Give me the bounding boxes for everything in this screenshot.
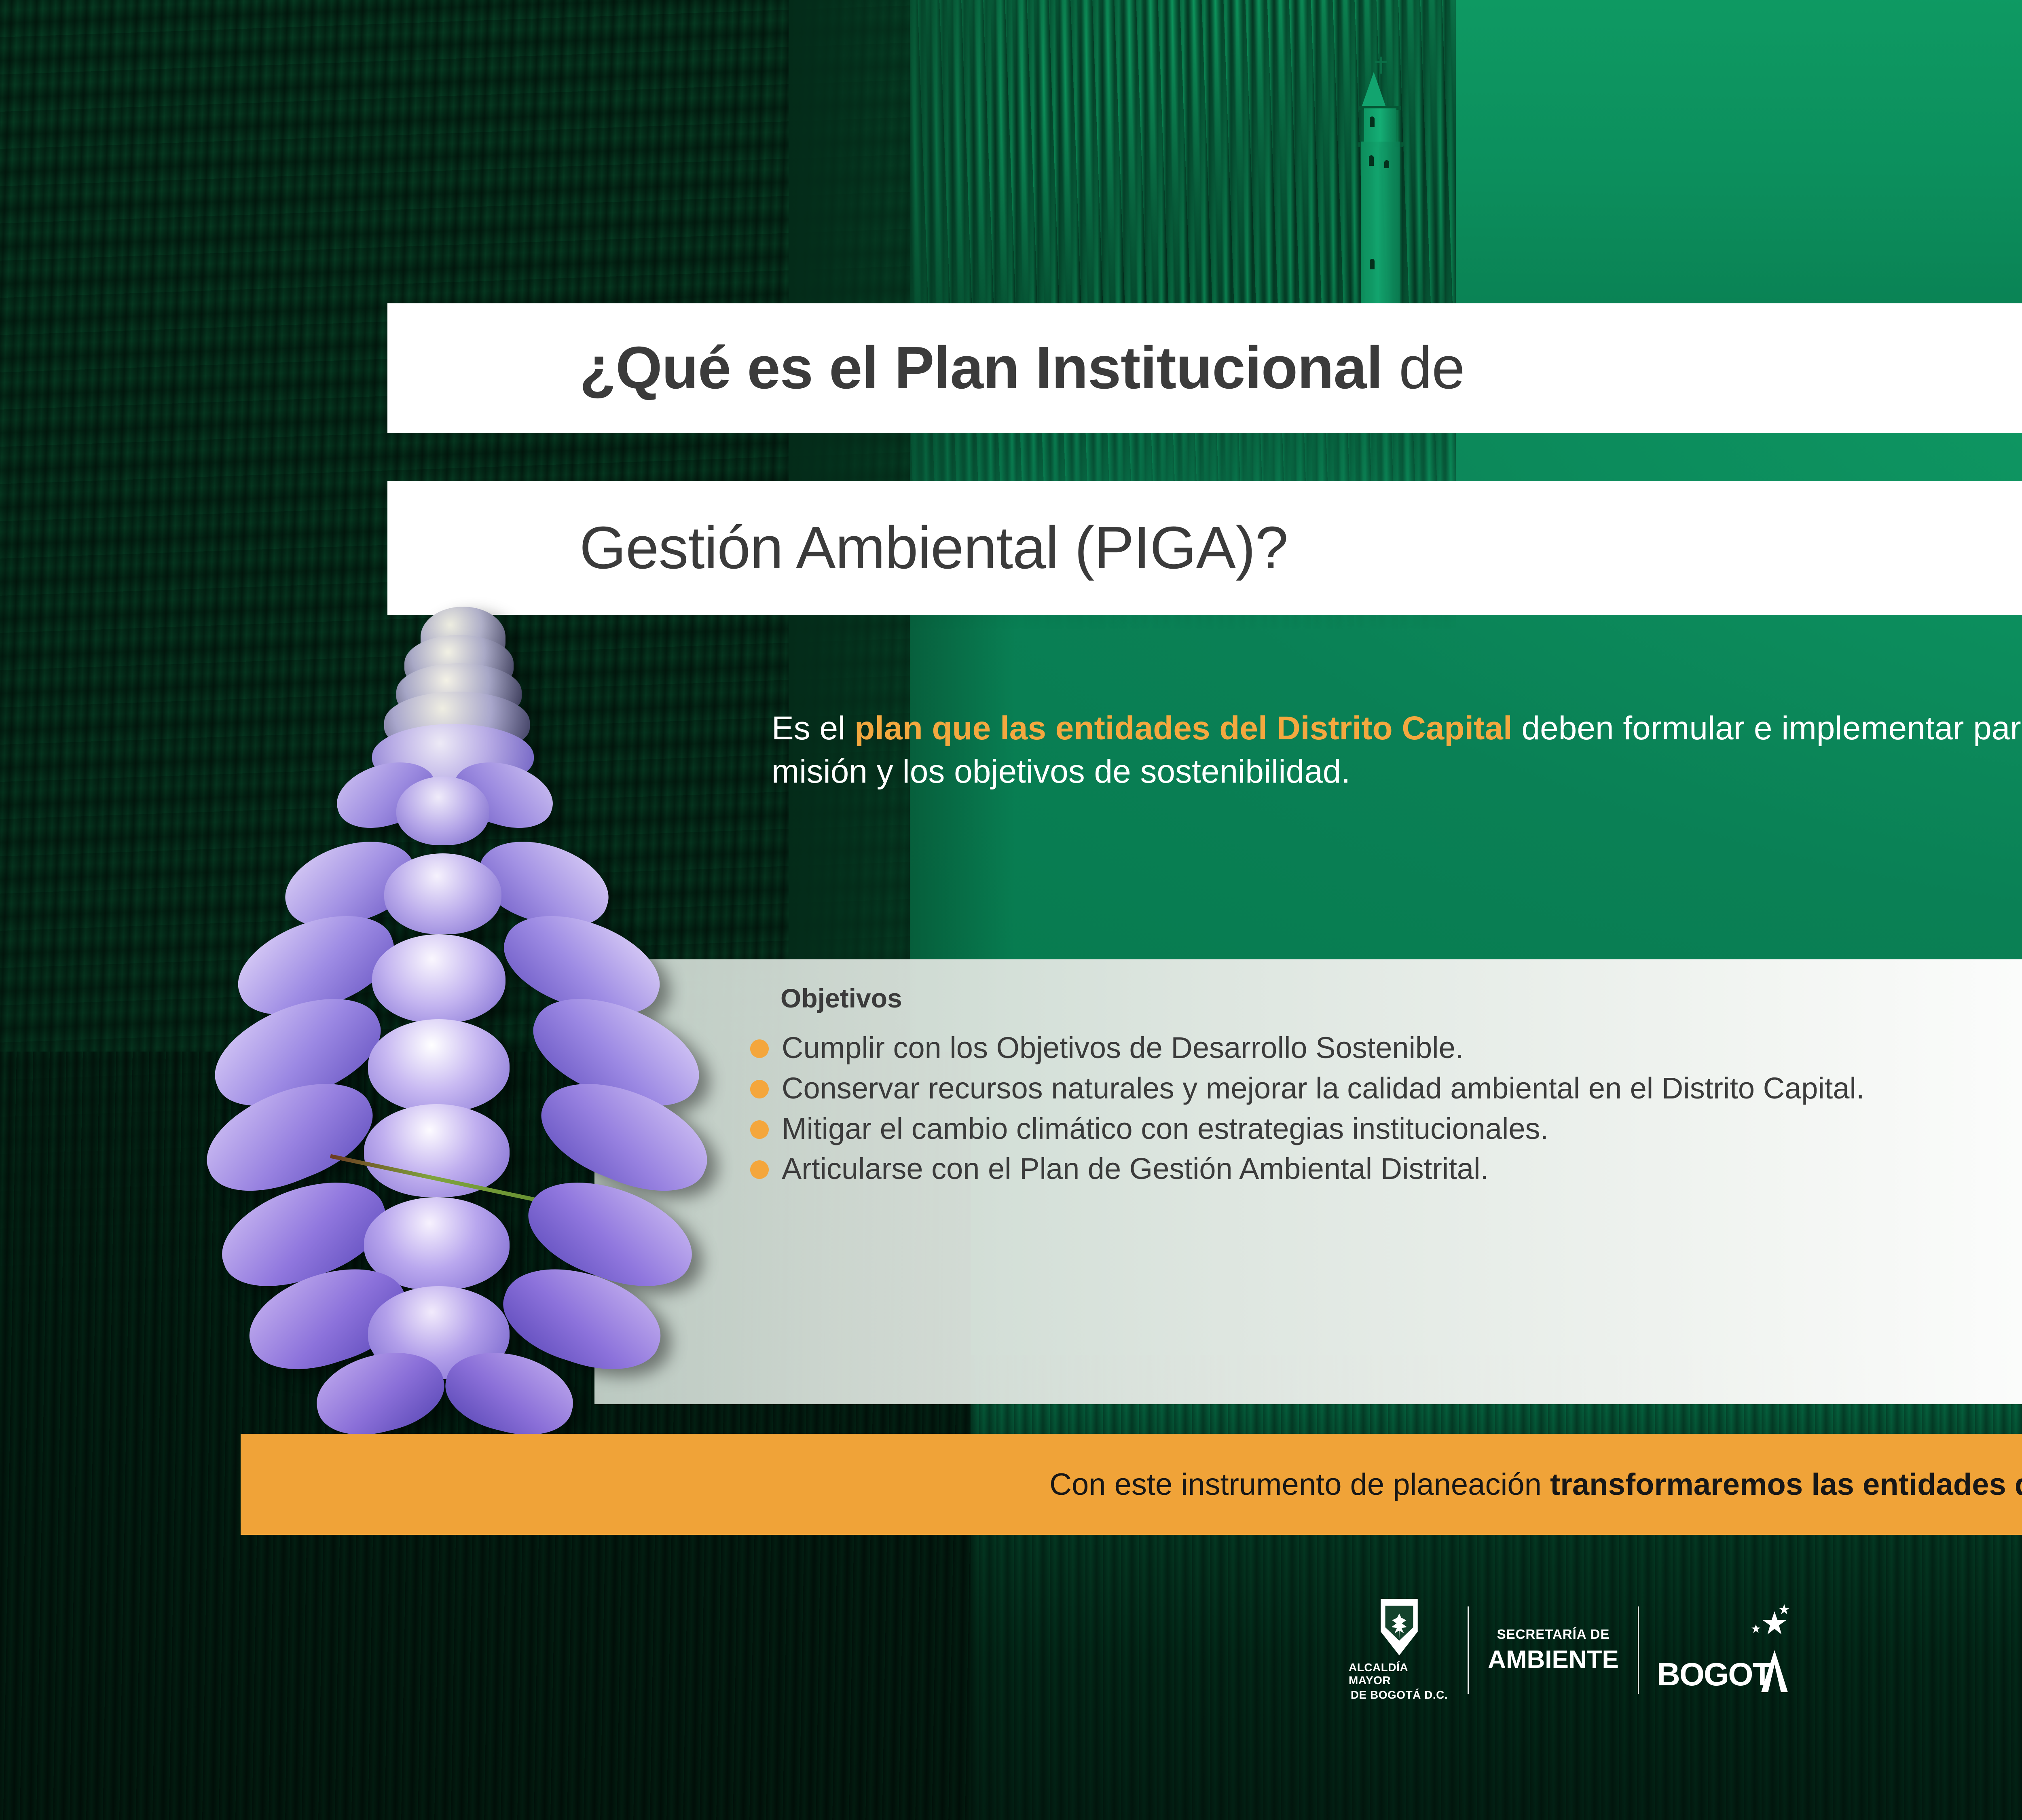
alcaldia-mayor-logo: ALCALDÍA MAYOR DE BOGOTÁ D.C. — [1349, 1599, 1450, 1701]
footer-logo-bar: ALCALDÍA MAYOR DE BOGOTÁ D.C. SECRETARÍA… — [1349, 1589, 1891, 1711]
objective-text: Articularse con el Plan de Gestión Ambie… — [782, 1151, 1489, 1186]
title-banner-first-line: ¿Qué es el Plan Institucional de — [387, 303, 2022, 433]
intro-paragraph: Es el plan que las entidades del Distrit… — [772, 707, 2022, 793]
intro-highlight: plan que las entidades del Distrito Capi… — [854, 710, 1512, 747]
alcaldia-line2: DE BOGOTÁ D.C. — [1351, 1689, 1448, 1701]
objectives-heading: Objetivos — [780, 983, 902, 1014]
bullet-icon — [750, 1160, 769, 1179]
list-item: Articularse con el Plan de Gestión Ambie… — [750, 1151, 2022, 1186]
star-tiny-icon — [1751, 1624, 1760, 1633]
alcaldia-line1: ALCALDÍA MAYOR — [1349, 1661, 1450, 1687]
secretaria-line1: SECRETARÍA DE — [1497, 1627, 1610, 1642]
star-icon — [1763, 1611, 1786, 1635]
intro-before: Es el — [772, 710, 854, 747]
footer-divider — [1468, 1606, 1469, 1694]
page-title-line2: Gestión Ambiental (PIGA)? — [580, 514, 1288, 581]
secretaria-ambiente-logo: SECRETARÍA DE AMBIENTE — [1487, 1627, 1620, 1674]
objective-text: Cumplir con los Objetivos de Desarrollo … — [782, 1031, 1464, 1065]
banner-text-normal: Con este instrumento de planeación — [1049, 1467, 1550, 1502]
bullet-icon — [750, 1120, 769, 1139]
star-small-icon — [1779, 1604, 1789, 1615]
page-title-light: de — [1383, 334, 1465, 401]
objective-text: Mitigar el cambio climático con estrateg… — [782, 1111, 1548, 1146]
banner-text: Con este instrumento de planeación trans… — [1049, 1467, 2022, 1502]
list-item: Conservar recursos naturales y mejorar l… — [750, 1071, 2022, 1106]
list-item: Cumplir con los Objetivos de Desarrollo … — [750, 1031, 2022, 1065]
title-banner-second-line: Gestión Ambiental (PIGA)? — [387, 481, 2022, 615]
objectives-list: Cumplir con los Objetivos de Desarrollo … — [750, 1031, 2022, 1192]
objective-text: Conservar recursos naturales y mejorar l… — [782, 1071, 1865, 1106]
call-to-action-banner: Con este instrumento de planeación trans… — [241, 1434, 2022, 1535]
church-tower-icon — [1349, 49, 1413, 315]
secretaria-line2: AMBIENTE — [1488, 1645, 1619, 1674]
footer-divider — [1638, 1606, 1639, 1694]
list-item: Mitigar el cambio climático con estrateg… — [750, 1111, 2022, 1146]
bullet-icon — [750, 1080, 769, 1098]
bogota-wordmark: BOGOT — [1657, 1658, 1771, 1691]
banner-text-bold: transformaremos las entidades del Distri… — [1550, 1467, 2022, 1502]
bogota-logo: BOGOT — [1657, 1610, 1790, 1691]
bullet-icon — [750, 1039, 769, 1058]
bogota-crest-icon — [1378, 1599, 1420, 1655]
infographic-page: AQUÍ SÍ PASA BOGOTÁ MI CIUDAD MI CASA ¿Q… — [0, 0, 2022, 1820]
page-title-bold: ¿Qué es el Plan Institucional — [580, 334, 1383, 401]
